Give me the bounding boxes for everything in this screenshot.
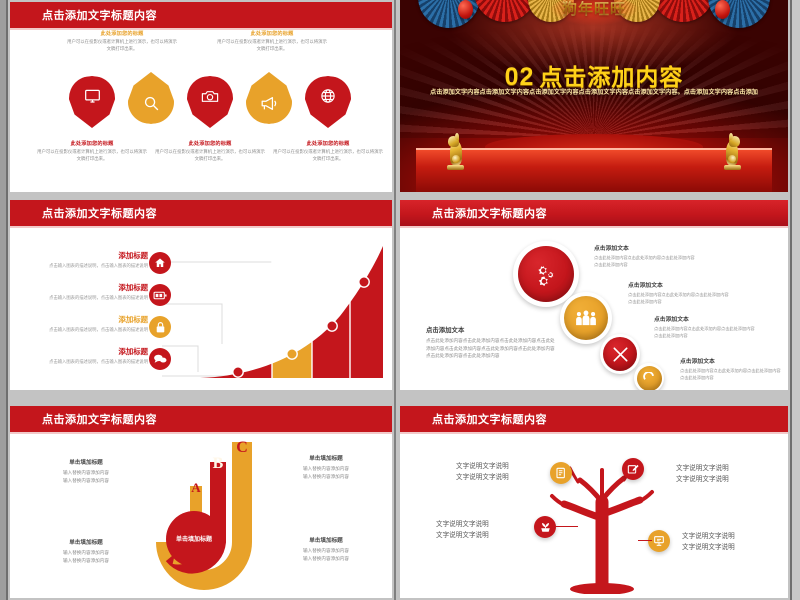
text-body: 点击此处添加内容点击此处添加内容点击此处添加内容点击此处添加内容 (680, 368, 784, 382)
poster-background: 狗年旺旺 02点击添加内容 点击添加文字内容点击添加文字内容点击添加文字内容点击… (400, 0, 788, 192)
people-icon (575, 309, 597, 327)
swoosh-letter-b: B (213, 455, 224, 472)
poster-title-text: 点击添加内容 (539, 64, 683, 90)
ring-icon (643, 372, 655, 384)
swoosh-letter-a: A (191, 480, 201, 495)
block-heading: 单击填加标题 (34, 458, 138, 466)
chart-icon-chat[interactable] (149, 348, 171, 370)
text-body: 点击此处添加内容点击此处添加内容点击此处添加内容点击此处添加内容 (594, 255, 698, 269)
block-line-1: 输入替换内容添加内容 (274, 547, 378, 555)
lock-icon (155, 321, 166, 334)
text-heading: 点击添加文本 (628, 280, 732, 289)
slide-title: 点击添加文字标题内容 (42, 411, 157, 427)
label-body: 点击输入图表的描述说明，点击输入图表的描述说明 (32, 263, 148, 270)
home-icon (154, 257, 166, 269)
caption-bottom-3: 此处添加您的标题 用户可以在投影仪或者计算机上进行演示，也可以将演示文稿打印出来… (272, 140, 384, 163)
caption-body: 用户可以在投影仪或者计算机上进行演示，也可以将演示文稿打印出来。 (154, 149, 266, 163)
caption-body: 用户可以在投影仪或者计算机上进行演示，也可以将演示文稿打印出来。 (36, 149, 148, 163)
circles-right-text-2: 点击添加文本 点击此处添加内容点击此处添加内容点击此处添加内容点击此处添加内容 (628, 280, 732, 306)
droplet-monitor[interactable] (69, 76, 115, 128)
tree-node-2[interactable] (622, 458, 644, 480)
label-line-2: 文字说明文字说明 (676, 475, 776, 486)
block-line-2: 输入替换内容添加内容 (34, 477, 138, 485)
label-line-1: 文字说明文字说明 (676, 464, 776, 475)
block-line-1: 输入替换内容添加内容 (274, 465, 378, 473)
monitor-icon (69, 76, 115, 128)
column-divider (394, 0, 396, 600)
label-body: 点击输入图表的描述说明，点击输入图表的描述说明 (32, 327, 148, 334)
tree-label-2: 文字说明文字说明 文字说明文字说明 (676, 464, 776, 485)
presentation-thumbnail-grid: 点击添加文字标题内容 此处添加您的标题 用户可以在投影仪或者计算机上进行演示，也… (0, 0, 800, 600)
circles-right-text-1: 点击添加文本 点击此处添加内容点击此处添加内容点击此处添加内容点击此处添加内容 (594, 243, 698, 269)
swoosh-block-1: 单击填加标题 输入替换内容添加内容 输入替换内容添加内容 (34, 458, 138, 485)
chart-label-1: 添加标题 点击输入图表的描述说明，点击输入图表的描述说明 (32, 250, 148, 270)
label-line-2: 文字说明文字说明 (436, 531, 536, 542)
swoosh-letter-c: C (236, 439, 248, 456)
chart-label-4: 添加标题 点击输入图表的描述说明，点击输入图表的描述说明 (32, 346, 148, 366)
label-body: 点击输入图表的描述说明，点击输入图表的描述说明 (32, 295, 148, 302)
label-line-1: 文字说明文字说明 (456, 462, 556, 473)
chat-icon (153, 353, 167, 365)
tree-label-4: 文字说明文字说明 文字说明文字说明 (682, 532, 782, 553)
block-line-2: 输入替换内容添加内容 (274, 555, 378, 563)
lantern-icon (715, 0, 730, 19)
chart-label-3: 添加标题 点击输入图表的描述说明，点击输入图表的描述说明 (32, 314, 148, 334)
globe-icon (305, 76, 351, 128)
poster-title: 02点击添加内容 (400, 58, 788, 92)
golden-dog-statue-left (448, 136, 464, 170)
label-heading: 添加标题 (32, 250, 148, 261)
tools-icon (612, 346, 629, 363)
swoosh-block-4: 单击填加标题 输入替换内容添加内容 输入替换内容添加内容 (274, 536, 378, 563)
tree-label-1: 文字说明文字说明 文字说明文字说明 (456, 462, 556, 483)
block-line-2: 输入替换内容添加内容 (34, 557, 138, 565)
slide-droplets[interactable]: 点击添加文字标题内容 此处添加您的标题 用户可以在投影仪或者计算机上进行演示，也… (10, 2, 392, 192)
battery-icon (153, 290, 167, 301)
slide-circles[interactable]: 点击添加文字标题内容 (400, 200, 788, 390)
label-line-2: 文字说明文字说明 (456, 473, 556, 484)
chart-icon-home[interactable] (149, 252, 171, 274)
text-body: 点击此处添加内容点击此处添加内容点击此处添加内容点击此处添加内容 (654, 326, 758, 340)
slide-title: 点击添加文字标题内容 (432, 205, 547, 221)
block-line-1: 输入替换内容添加内容 (34, 549, 138, 557)
chart-icon-lock[interactable] (149, 316, 171, 338)
block-heading: 单击填加标题 (34, 538, 138, 546)
slide-title-bar: 点击添加文字标题内容 (10, 406, 392, 432)
circles-left-text: 点击添加文本 点击此处添加内容点击此处添加内容点击此处添加内容点击此处添加内容点… (426, 325, 556, 360)
camera-icon (187, 76, 233, 128)
droplet-globe[interactable] (305, 76, 351, 128)
droplet-camera[interactable] (187, 76, 233, 128)
gears-icon (533, 261, 559, 287)
caption-bottom-1: 此处添加您的标题 用户可以在投影仪或者计算机上进行演示，也可以将演示文稿打印出来… (36, 140, 148, 163)
board-icon (653, 535, 665, 547)
golden-dog-statue-right (724, 136, 740, 170)
caption-heading: 此处添加您的标题 (36, 140, 148, 147)
label-body: 点击输入图表的描述说明，点击输入图表的描述说明 (32, 359, 148, 366)
label-heading: 添加标题 (32, 346, 148, 357)
swoosh-block-2: 单击填加标题 输入替换内容添加内容 输入替换内容添加内容 (34, 538, 138, 565)
droplet-search[interactable] (128, 72, 174, 124)
label-heading: 添加标题 (32, 282, 148, 293)
text-heading: 点击添加文本 (426, 325, 556, 334)
swoosh-hub-label: 单击填加标题 (176, 535, 213, 543)
label-line-1: 文字说明文字说明 (436, 520, 536, 531)
plant-icon (539, 521, 552, 533)
slide-title-bar: 点击添加文字标题内容 (400, 406, 788, 432)
text-heading: 点击添加文本 (680, 356, 784, 365)
section-number: 02 (505, 63, 535, 91)
slide-growth-chart[interactable]: 点击添加文字标题内容 (10, 200, 392, 390)
slide-title: 点击添加文字标题内容 (432, 411, 547, 427)
newyear-emblem: 狗年旺旺 (562, 0, 626, 19)
edit-icon (627, 463, 639, 475)
circle-node-4[interactable] (634, 363, 664, 390)
text-body: 点击此处添加内容点击此处添加内容点击此处添加内容点击此处添加内容点击此处添加内容… (426, 337, 556, 360)
search-icon (128, 72, 174, 124)
block-line-1: 输入替换内容添加内容 (34, 469, 138, 477)
text-heading: 点击添加文本 (654, 314, 758, 323)
caption-heading: 此处添加您的标题 (154, 140, 266, 147)
label-line-1: 文字说明文字说明 (682, 532, 782, 543)
tree-node-3[interactable] (534, 516, 556, 538)
text-heading: 点击添加文本 (594, 243, 698, 252)
leader-line (638, 540, 652, 541)
slide-tree[interactable]: 点击添加文字标题内容 (400, 406, 788, 598)
chart-segments (200, 246, 390, 380)
chart-label-2: 添加标题 点击输入图表的描述说明，点击输入图表的描述说明 (32, 282, 148, 302)
right-gutter (790, 0, 800, 600)
caption-body: 用户可以在投影仪或者计算机上进行演示，也可以将演示文稿打印出来。 (272, 149, 384, 163)
stage-base (416, 148, 773, 192)
poster-subtitle: 点击添加文字内容点击添加文字内容点击添加文字内容点击添加文字内容点击添加文字内容… (430, 88, 758, 99)
droplet-row (10, 2, 392, 192)
megaphone-icon (246, 72, 292, 124)
lantern-icon (458, 0, 473, 19)
block-heading: 单击填加标题 (274, 536, 378, 544)
block-line-2: 输入替换内容添加内容 (274, 473, 378, 481)
caption-bottom-2: 此处添加您的标题 用户可以在投影仪或者计算机上进行演示，也可以将演示文稿打印出来… (154, 140, 266, 163)
slide-title-bar: 点击添加文字标题内容 (400, 200, 788, 226)
circles-right-text-3: 点击添加文本 点击此处添加内容点击此处添加内容点击此处添加内容点击此处添加内容 (654, 314, 758, 340)
label-line-2: 文字说明文字说明 (682, 543, 782, 554)
droplet-megaphone[interactable] (246, 72, 292, 124)
block-heading: 单击填加标题 (274, 454, 378, 462)
tree-label-3: 文字说明文字说明 文字说明文字说明 (436, 520, 536, 541)
fan-icon (652, 0, 714, 22)
fan-icon (474, 0, 536, 22)
document-icon (555, 467, 567, 479)
chart-icon-battery[interactable] (149, 284, 171, 306)
abc-swoosh-graphic: 单击填加标题 A B C (150, 434, 280, 594)
circles-right-text-4: 点击添加文本 点击此处添加内容点击此处添加内容点击此处添加内容点击此处添加内容 (680, 356, 784, 382)
left-gutter (0, 0, 8, 600)
slide-newyear-poster[interactable]: 狗年旺旺 02点击添加内容 点击添加文字内容点击添加文字内容点击添加文字内容点击… (400, 0, 788, 192)
caption-heading: 此处添加您的标题 (272, 140, 384, 147)
swoosh-block-3: 单击填加标题 输入替换内容添加内容 输入替换内容添加内容 (274, 454, 378, 481)
slide-title: 点击添加文字标题内容 (42, 205, 157, 221)
label-heading: 添加标题 (32, 314, 148, 325)
slide-title-bar: 点击添加文字标题内容 (10, 200, 392, 226)
slide-abc-swoosh[interactable]: 点击添加文字标题内容 单击填加标题 A B C 单击填加标题 输入替换内容添加内… (10, 406, 392, 598)
growth-area-chart (200, 246, 390, 380)
leader-line (556, 526, 578, 527)
text-body: 点击此处添加内容点击此处添加内容点击此处添加内容点击此处添加内容 (628, 292, 732, 306)
